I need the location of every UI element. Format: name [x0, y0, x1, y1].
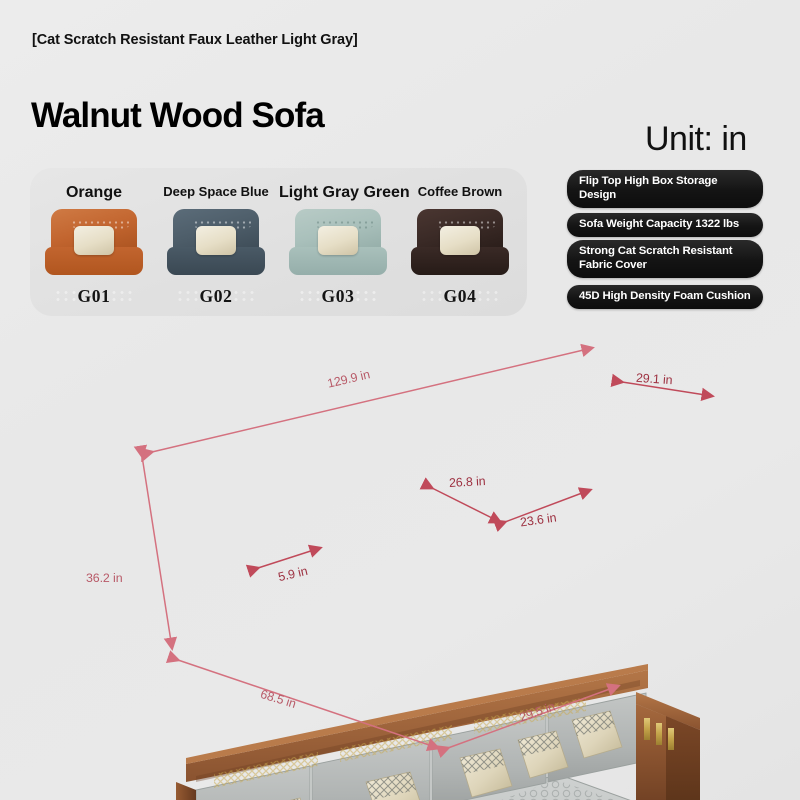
variant-name: Orange — [35, 184, 153, 202]
feature-pill-capacity[interactable]: Sofa Weight Capacity 1322 lbs — [567, 213, 763, 237]
variant-name: Light Gray Green — [279, 184, 397, 202]
dim-line-seat-depth — [432, 488, 500, 522]
variant-code: G04 — [401, 286, 519, 307]
product-infographic: [Cat Scratch Resistant Faux Leather Ligh… — [0, 0, 800, 800]
mini-sofa-icon — [289, 209, 387, 275]
variant-name: Coffee Brown — [401, 184, 519, 199]
dim-label-overall-height: 36.2 in — [86, 571, 123, 585]
dim-label-seat-depth: 26.8 in — [449, 474, 486, 490]
brass-slat — [656, 723, 662, 745]
mini-sofa-icon — [45, 209, 143, 275]
brass-slat — [644, 718, 650, 740]
variant-swatch-g01[interactable]: Orange G01 — [35, 178, 153, 308]
variant-code: G02 — [157, 286, 275, 307]
mini-pillow — [440, 226, 480, 255]
variant-code: G03 — [279, 286, 397, 307]
brass-slat — [668, 728, 674, 750]
mini-pillow — [74, 226, 114, 255]
mini-pillow — [196, 226, 236, 255]
mini-pillow — [318, 226, 358, 255]
feature-pill-storage[interactable]: Flip Top High Box Storage Design — [567, 170, 763, 208]
dim-line-overall-width — [152, 348, 592, 452]
variant-swatch-g02[interactable]: Deep Space Blue G02 — [157, 178, 275, 308]
variant-code: G01 — [35, 286, 153, 307]
dim-label-chaise-width: 29.1 in — [636, 371, 673, 388]
variant-name: Deep Space Blue — [157, 184, 275, 199]
left-back-post — [176, 782, 196, 800]
feature-pill-fabric[interactable]: Strong Cat Scratch Resistant Fabric Cove… — [567, 240, 763, 278]
mini-sofa-icon — [167, 209, 265, 275]
product-subtitle: [Cat Scratch Resistant Faux Leather Ligh… — [32, 30, 362, 51]
page-title: Walnut Wood Sofa — [31, 98, 324, 133]
right-armrest — [636, 692, 700, 800]
color-variant-panel: Orange G01 Deep Space Blue — [30, 168, 527, 316]
feature-pill-foam[interactable]: 45D High Density Foam Cushion — [567, 285, 763, 309]
dim-line-overall-height — [142, 456, 172, 648]
sofa-diagram — [0, 330, 800, 800]
main-sofa-section — [160, 664, 700, 800]
mini-sofa-icon — [411, 209, 509, 275]
variant-swatch-g04[interactable]: Coffee Brown G04 — [401, 178, 519, 308]
variant-swatch-g03[interactable]: Light Gray Green G03 — [279, 178, 397, 308]
dim-line-armrest-width — [258, 548, 320, 568]
unit-label: Unit: in — [645, 120, 747, 159]
